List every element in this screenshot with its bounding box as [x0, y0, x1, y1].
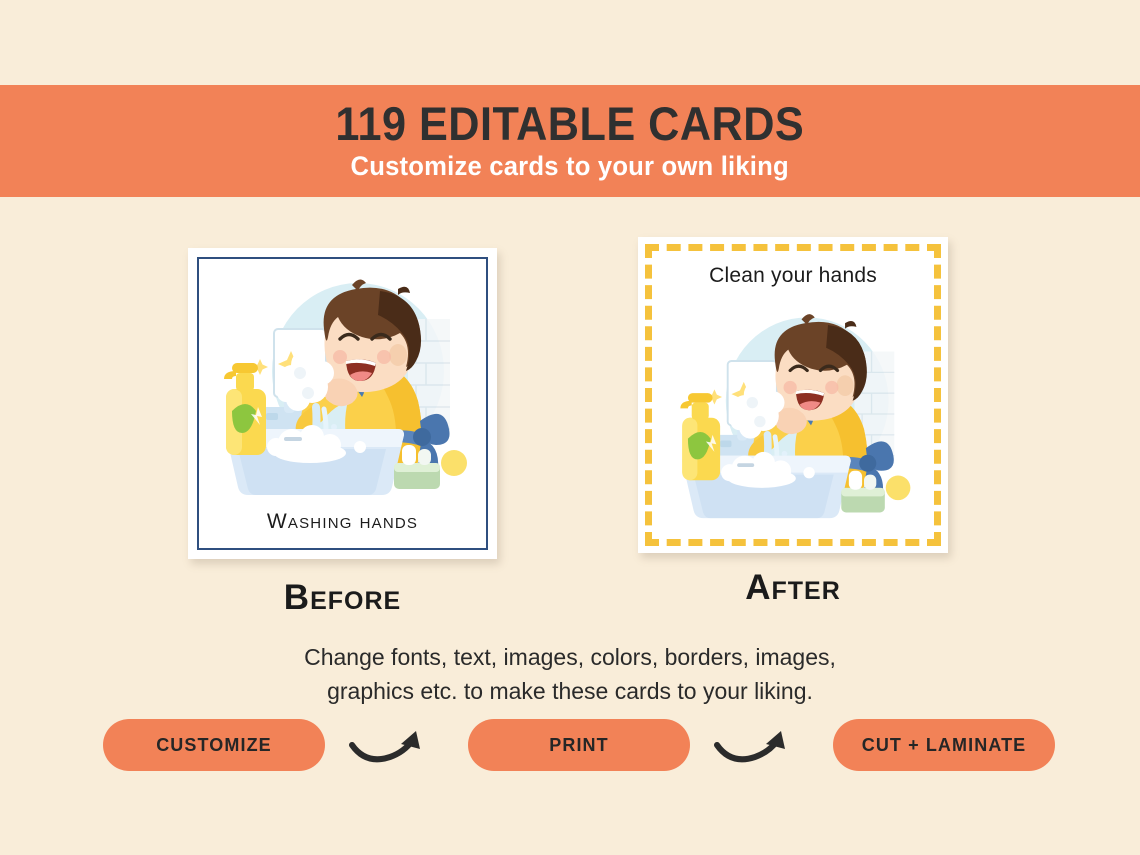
description-line-2: graphics etc. to make these cards to you…	[120, 674, 1020, 708]
step-customize-button[interactable]: CUSTOMIZE	[103, 719, 325, 771]
child-washing-hands-illustration	[669, 302, 917, 526]
card-after-artwork	[652, 288, 934, 539]
poster-canvas: 119 EDITABLE CARDS Customize cards to yo…	[0, 0, 1140, 855]
card-before-caption: Washing hands	[199, 510, 486, 548]
step-cut-laminate-button[interactable]: CUT + LAMINATE	[833, 719, 1055, 771]
label-after: After	[638, 568, 948, 608]
card-before-frame: Washing hands	[197, 257, 488, 550]
curved-arrow-icon	[348, 725, 426, 769]
step-print-button[interactable]: PRINT	[468, 719, 690, 771]
page-title: 119 EDITABLE CARDS	[336, 100, 805, 148]
card-after-caption: Clean your hands	[652, 251, 934, 288]
label-before: Before	[188, 578, 497, 618]
steps-row: CUSTOMIZE PRINT CUT + LAMINATE	[0, 719, 1140, 775]
header-banner: 119 EDITABLE CARDS Customize cards to yo…	[0, 85, 1140, 197]
card-before[interactable]: Washing hands	[188, 248, 497, 559]
card-after[interactable]: Clean your hands	[638, 237, 948, 553]
child-washing-hands-illustration	[212, 267, 474, 503]
card-after-frame: Clean your hands	[645, 244, 941, 546]
page-subtitle: Customize cards to your own liking	[351, 151, 789, 182]
card-before-artwork	[199, 259, 486, 510]
description-text: Change fonts, text, images, colors, bord…	[120, 640, 1020, 708]
description-line-1: Change fonts, text, images, colors, bord…	[120, 640, 1020, 674]
curved-arrow-icon	[713, 725, 791, 769]
